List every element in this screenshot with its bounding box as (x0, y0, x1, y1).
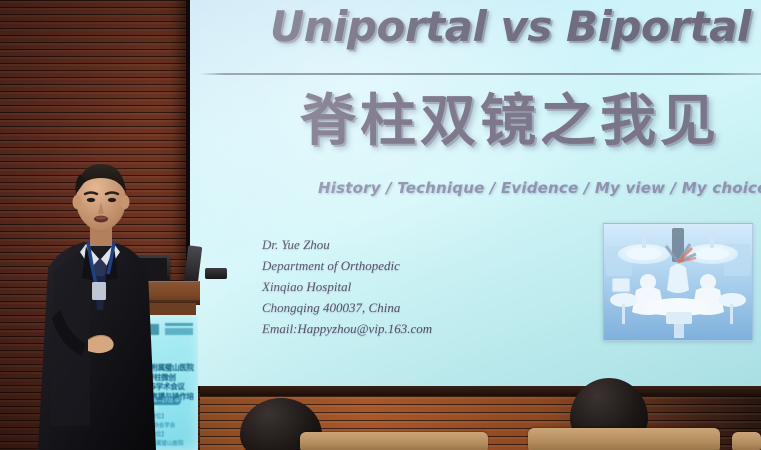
slide-divider-line (200, 73, 761, 75)
presenter-device-base (205, 268, 227, 279)
audience-chair-right (528, 428, 720, 450)
operating-room-illustration (603, 223, 753, 341)
slide-title-chinese: 脊柱双镜之我见 (300, 76, 720, 157)
speaker-figure (30, 150, 180, 450)
audience-chair-left (300, 432, 488, 450)
slide-subtitle: History / Technique / Evidence / My view… (318, 179, 761, 197)
audience-chair-far-right (732, 432, 761, 450)
affiliation-line-department: Department of Orthopedic (262, 255, 432, 276)
slide-affiliation-block: Dr. Yue Zhou Department of Orthopedic Xi… (262, 234, 432, 339)
affiliation-line-city: Chongqing 400037, China (262, 297, 432, 318)
affiliation-line-name: Dr. Yue Zhou (262, 234, 432, 255)
affiliation-line-email: Email:Happyzhou@vip.163.com (262, 318, 432, 339)
slide-title: Uniportal vs Biportal (270, 2, 761, 51)
projection-screen: Uniportal vs Biportal 脊柱双镜之我见 History / … (190, 0, 761, 386)
affiliation-line-hospital: Xinqiao Hospital (262, 276, 432, 297)
conference-photo-scene: Uniportal vs Biportal 脊柱双镜之我见 History / … (0, 0, 761, 450)
